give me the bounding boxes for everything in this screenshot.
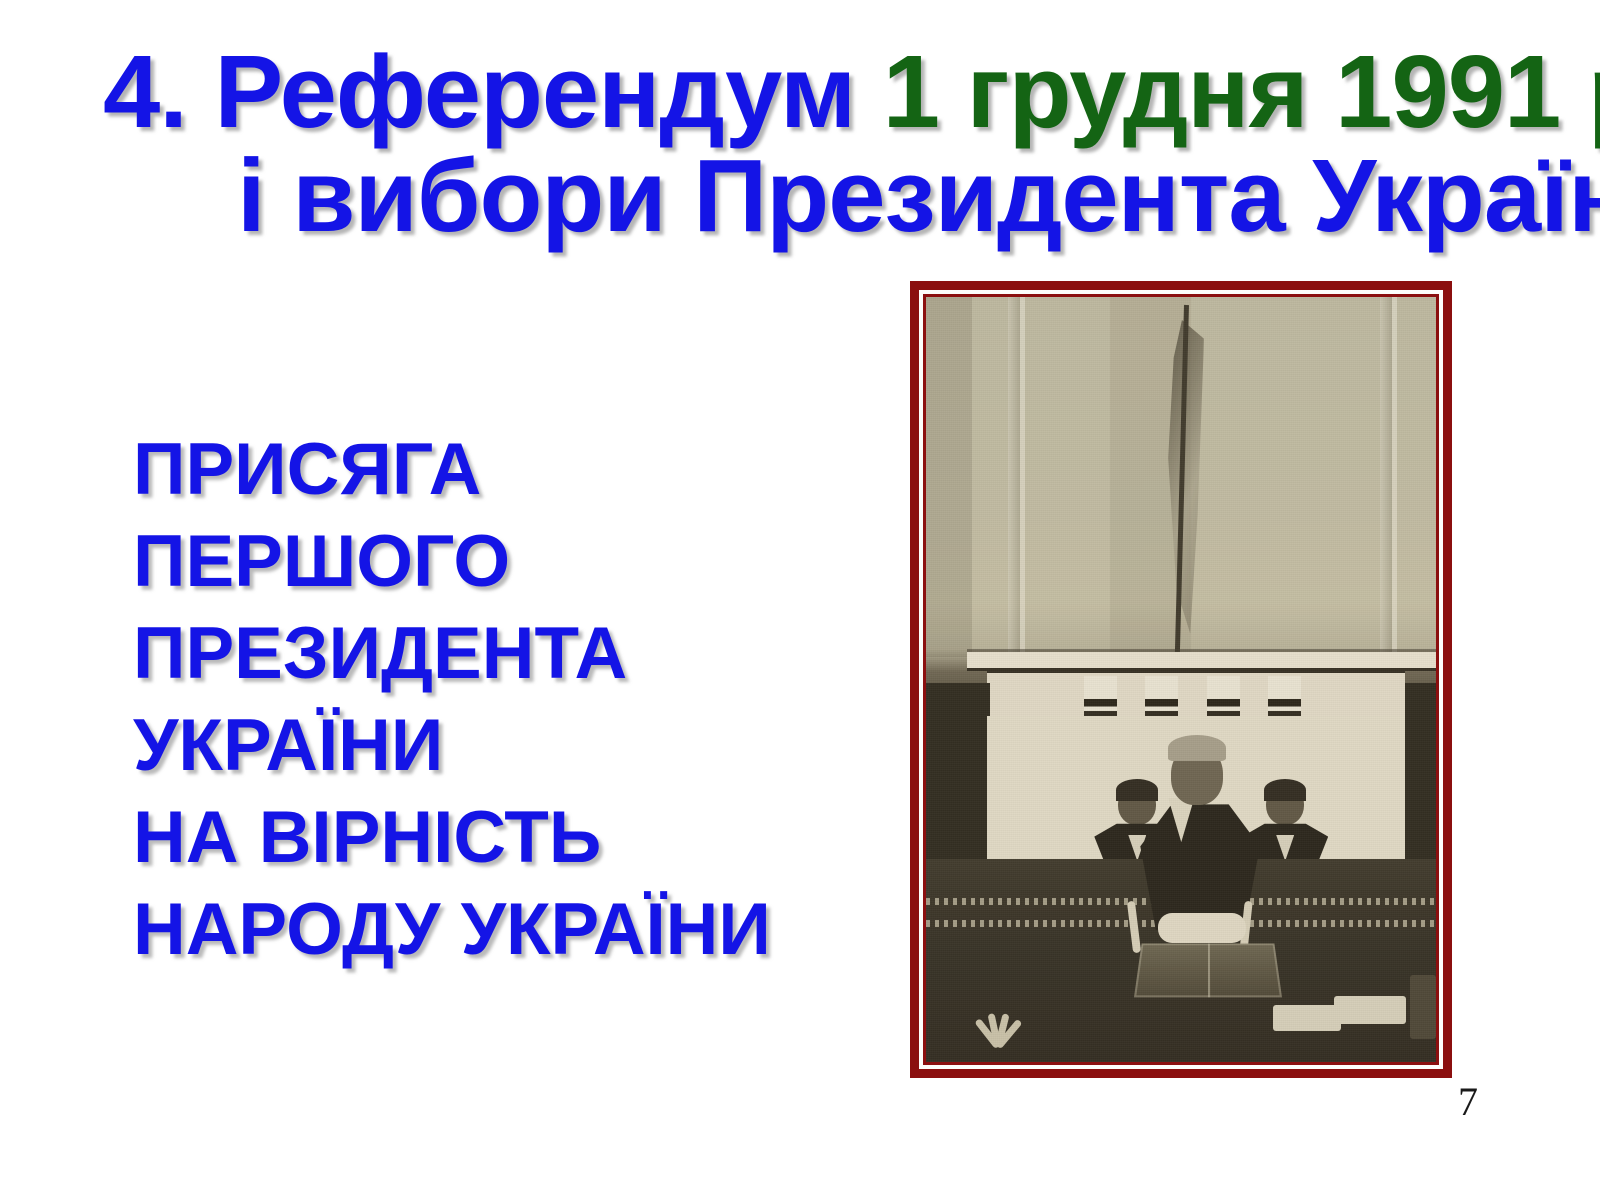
slide-canvas: 4. Референдум 1 грудня 1991 р. і вибори …: [0, 0, 1600, 1200]
wall-pilaster-2: [1020, 297, 1025, 657]
speaker-hair: [1168, 735, 1226, 761]
page-number: 7: [1448, 1078, 1488, 1125]
wall-pilaster-1: [1008, 297, 1020, 657]
cornice-bracket-2: [1145, 676, 1178, 716]
open-oath-book: [1134, 943, 1282, 997]
oath-line-1: ПРИСЯГА: [133, 424, 893, 516]
balcony-dark-right: [1405, 683, 1436, 867]
photo-frame: [910, 281, 1452, 1078]
slide-title: 4. Референдум 1 грудня 1991 р. і вибори …: [95, 40, 1515, 248]
title-line-2: і вибори Президента України: [95, 144, 1515, 248]
flower-decoration: [972, 983, 1024, 1047]
oath-line-3: ПРЕЗИДЕНТА: [133, 608, 893, 700]
cornice-bracket-1: [1084, 676, 1117, 716]
desk-object-right: [1410, 975, 1436, 1039]
oath-text-block: ПРИСЯГА ПЕРШОГО ПРЕЗИДЕНТА УКРАЇНИ НА ВІ…: [133, 424, 893, 976]
wall-pilaster-3: [1380, 297, 1392, 657]
title-line-1-green-part: 1 грудня 1991 р.: [883, 34, 1600, 149]
oath-line-6: НАРОДУ УКРАЇНИ: [133, 884, 893, 976]
title-line-1: 4. Референдум 1 грудня 1991 р.: [95, 40, 1515, 144]
official-hair: [1264, 779, 1306, 801]
oath-line-2: ПЕРШОГО: [133, 516, 893, 608]
desk-paper-2: [1334, 996, 1406, 1024]
oath-line-4: УКРАЇНИ: [133, 700, 893, 792]
cornice-top: [967, 652, 1436, 668]
title-line-1-blue-part: 4. Референдум: [103, 34, 883, 149]
desk-paper-1: [1273, 1005, 1341, 1031]
wall-pilaster-4: [1392, 297, 1397, 657]
cornice-body: [987, 669, 1405, 723]
official-hair: [1116, 779, 1158, 801]
balcony-dark-left: [926, 683, 990, 867]
wall-shadow-left: [926, 297, 972, 657]
oath-line-5: НА ВІРНІСТЬ: [133, 792, 893, 884]
cornice-bracket-4: [1268, 676, 1301, 716]
speaker-hands-on-book: [1158, 913, 1246, 943]
historical-photograph: [926, 297, 1436, 1062]
photo-inner-border: [923, 294, 1439, 1065]
cornice-bracket-3: [1207, 676, 1240, 716]
